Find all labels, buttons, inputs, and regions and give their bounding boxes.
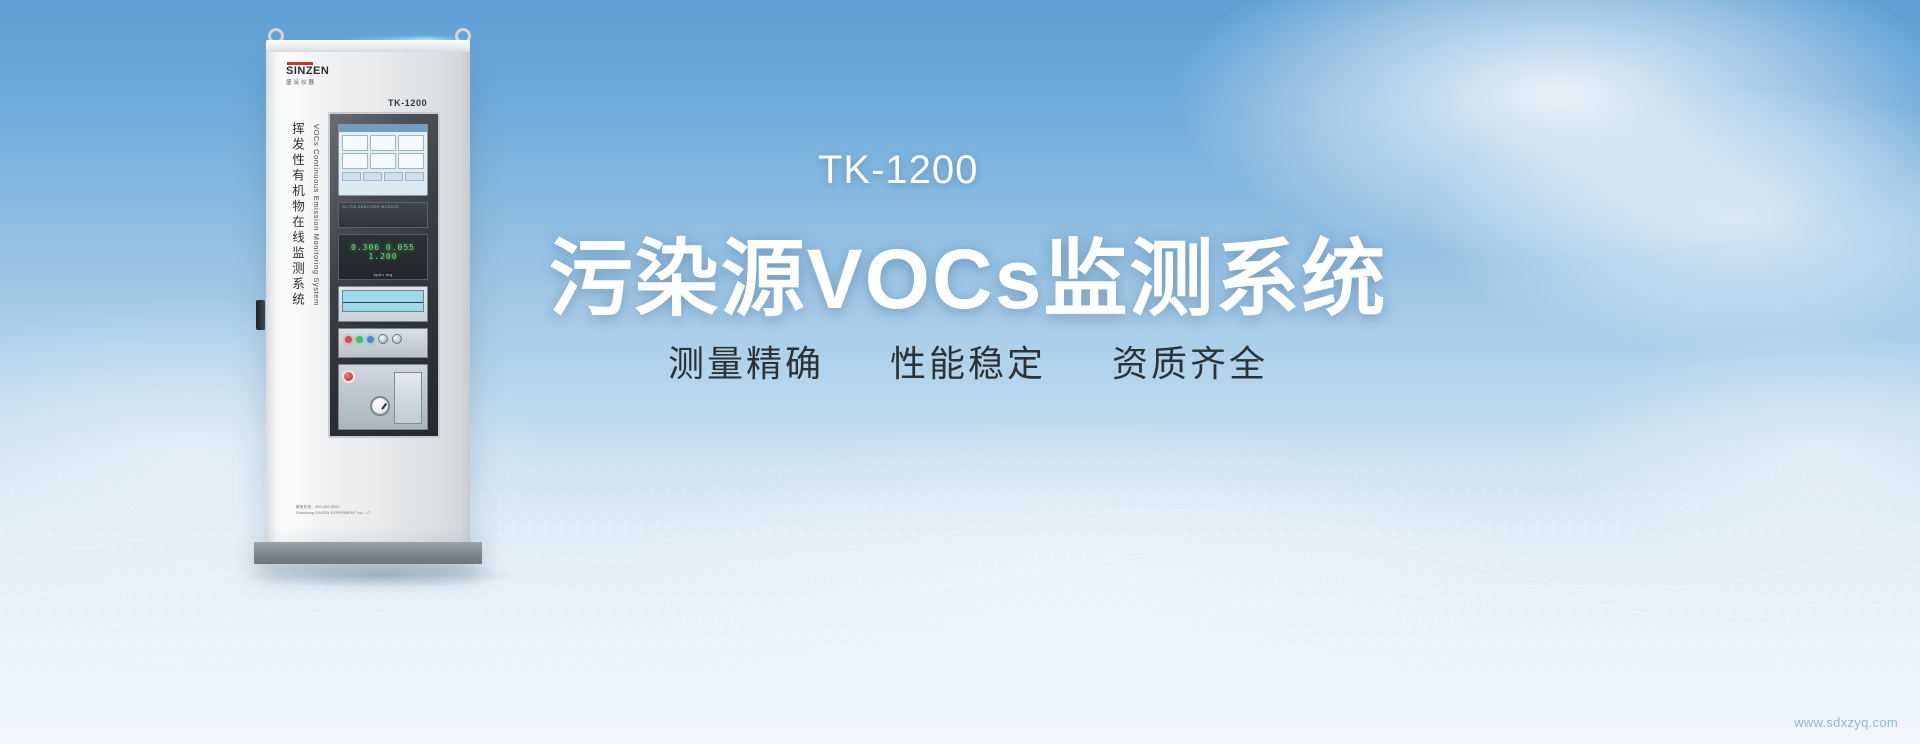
hmi-button	[405, 172, 424, 181]
brand-wordmark: SINZEN	[286, 66, 356, 77]
plumbing-block	[394, 372, 422, 424]
hmi-button-row	[339, 172, 427, 181]
feature-item-3: 资质齐全	[1112, 335, 1268, 387]
feature-item-1: 测量精确	[668, 335, 824, 387]
hmi-button	[363, 172, 382, 181]
cabinet-door-handle[interactable]	[256, 300, 265, 330]
site-watermark: www.sdxzyq.com	[1794, 715, 1898, 730]
control-knob-icon[interactable]	[392, 334, 402, 344]
pressure-gauge-icon	[370, 396, 390, 416]
brand-logo: SINZEN 盛派仪器	[286, 62, 356, 86]
cabinet-base-plinth	[254, 542, 482, 564]
chromatogram-display	[338, 286, 428, 322]
hmi-tile	[370, 135, 396, 151]
hmi-tile	[398, 135, 424, 151]
status-led-red-icon	[345, 336, 352, 343]
banner-headline: 污染源VOCs监测系统	[548, 212, 1388, 333]
chromatogram-trace	[343, 302, 423, 303]
control-panel	[338, 328, 428, 358]
footnote-line-2: Shandong SINZEN EXPERIMENT Inc., LT	[296, 510, 446, 516]
hmi-tile	[370, 153, 396, 169]
control-row	[339, 329, 427, 349]
cabinet-viewing-window: GC-FID ANALYZER MODULE 0.306 0.055 1.200…	[328, 112, 440, 438]
cabinet-vertical-title-en: VOCs Continuous Emission Monitoring Syst…	[312, 124, 321, 406]
digital-readout-panel: 0.306 0.055 1.200 ppbv mg	[338, 234, 428, 280]
cabinet-right-edge	[458, 52, 470, 542]
product-cabinet: SINZEN 盛派仪器 TK-1200 挥发性有机物在线监测系统 VOCs Co…	[240, 14, 520, 584]
readout-value: 0.306 0.055 1.200	[339, 235, 427, 261]
rack-label: GC-FID ANALYZER MODULE	[339, 203, 427, 211]
hmi-tile	[398, 153, 424, 169]
hmi-tile-grid	[339, 132, 427, 172]
hmi-button	[384, 172, 403, 181]
status-led-blue-icon	[367, 336, 374, 343]
status-led-green-icon	[356, 336, 363, 343]
cabinet-vertical-title-cn: 挥发性有机物在线监测系统	[288, 122, 307, 408]
cabinet-footnote: 服务热线：400-000-0000 Shandong SINZEN EXPERI…	[296, 504, 446, 516]
control-knob-icon[interactable]	[378, 334, 388, 344]
feature-list: 测量精确 性能稳定 资质齐全	[548, 335, 1388, 387]
brand-chinese-name: 盛派仪器	[286, 78, 356, 86]
hmi-touchscreen[interactable]	[338, 124, 428, 196]
feature-item-2: 性能稳定	[890, 335, 1046, 387]
hmi-title-bar	[339, 125, 427, 132]
banner-copy: TK-1200 污染源VOCs监测系统 测量精确 性能稳定 资质齐全	[548, 0, 1868, 744]
chromatogram-screen	[342, 290, 424, 312]
readout-unit: ppbv mg	[339, 261, 427, 277]
product-banner: SINZEN 盛派仪器 TK-1200 挥发性有机物在线监测系统 VOCs Co…	[0, 0, 1920, 744]
analyzer-module-rack: GC-FID ANALYZER MODULE	[338, 202, 428, 228]
hmi-button	[342, 172, 361, 181]
emergency-stop-button[interactable]	[342, 370, 355, 383]
cabinet-model-label: TK-1200	[388, 98, 427, 108]
cabinet-ground-shadow	[240, 562, 520, 588]
hmi-tile	[342, 135, 368, 151]
model-number: TK-1200	[818, 148, 978, 193]
cabinet-left-edge	[266, 52, 276, 542]
hmi-tile	[342, 153, 368, 169]
